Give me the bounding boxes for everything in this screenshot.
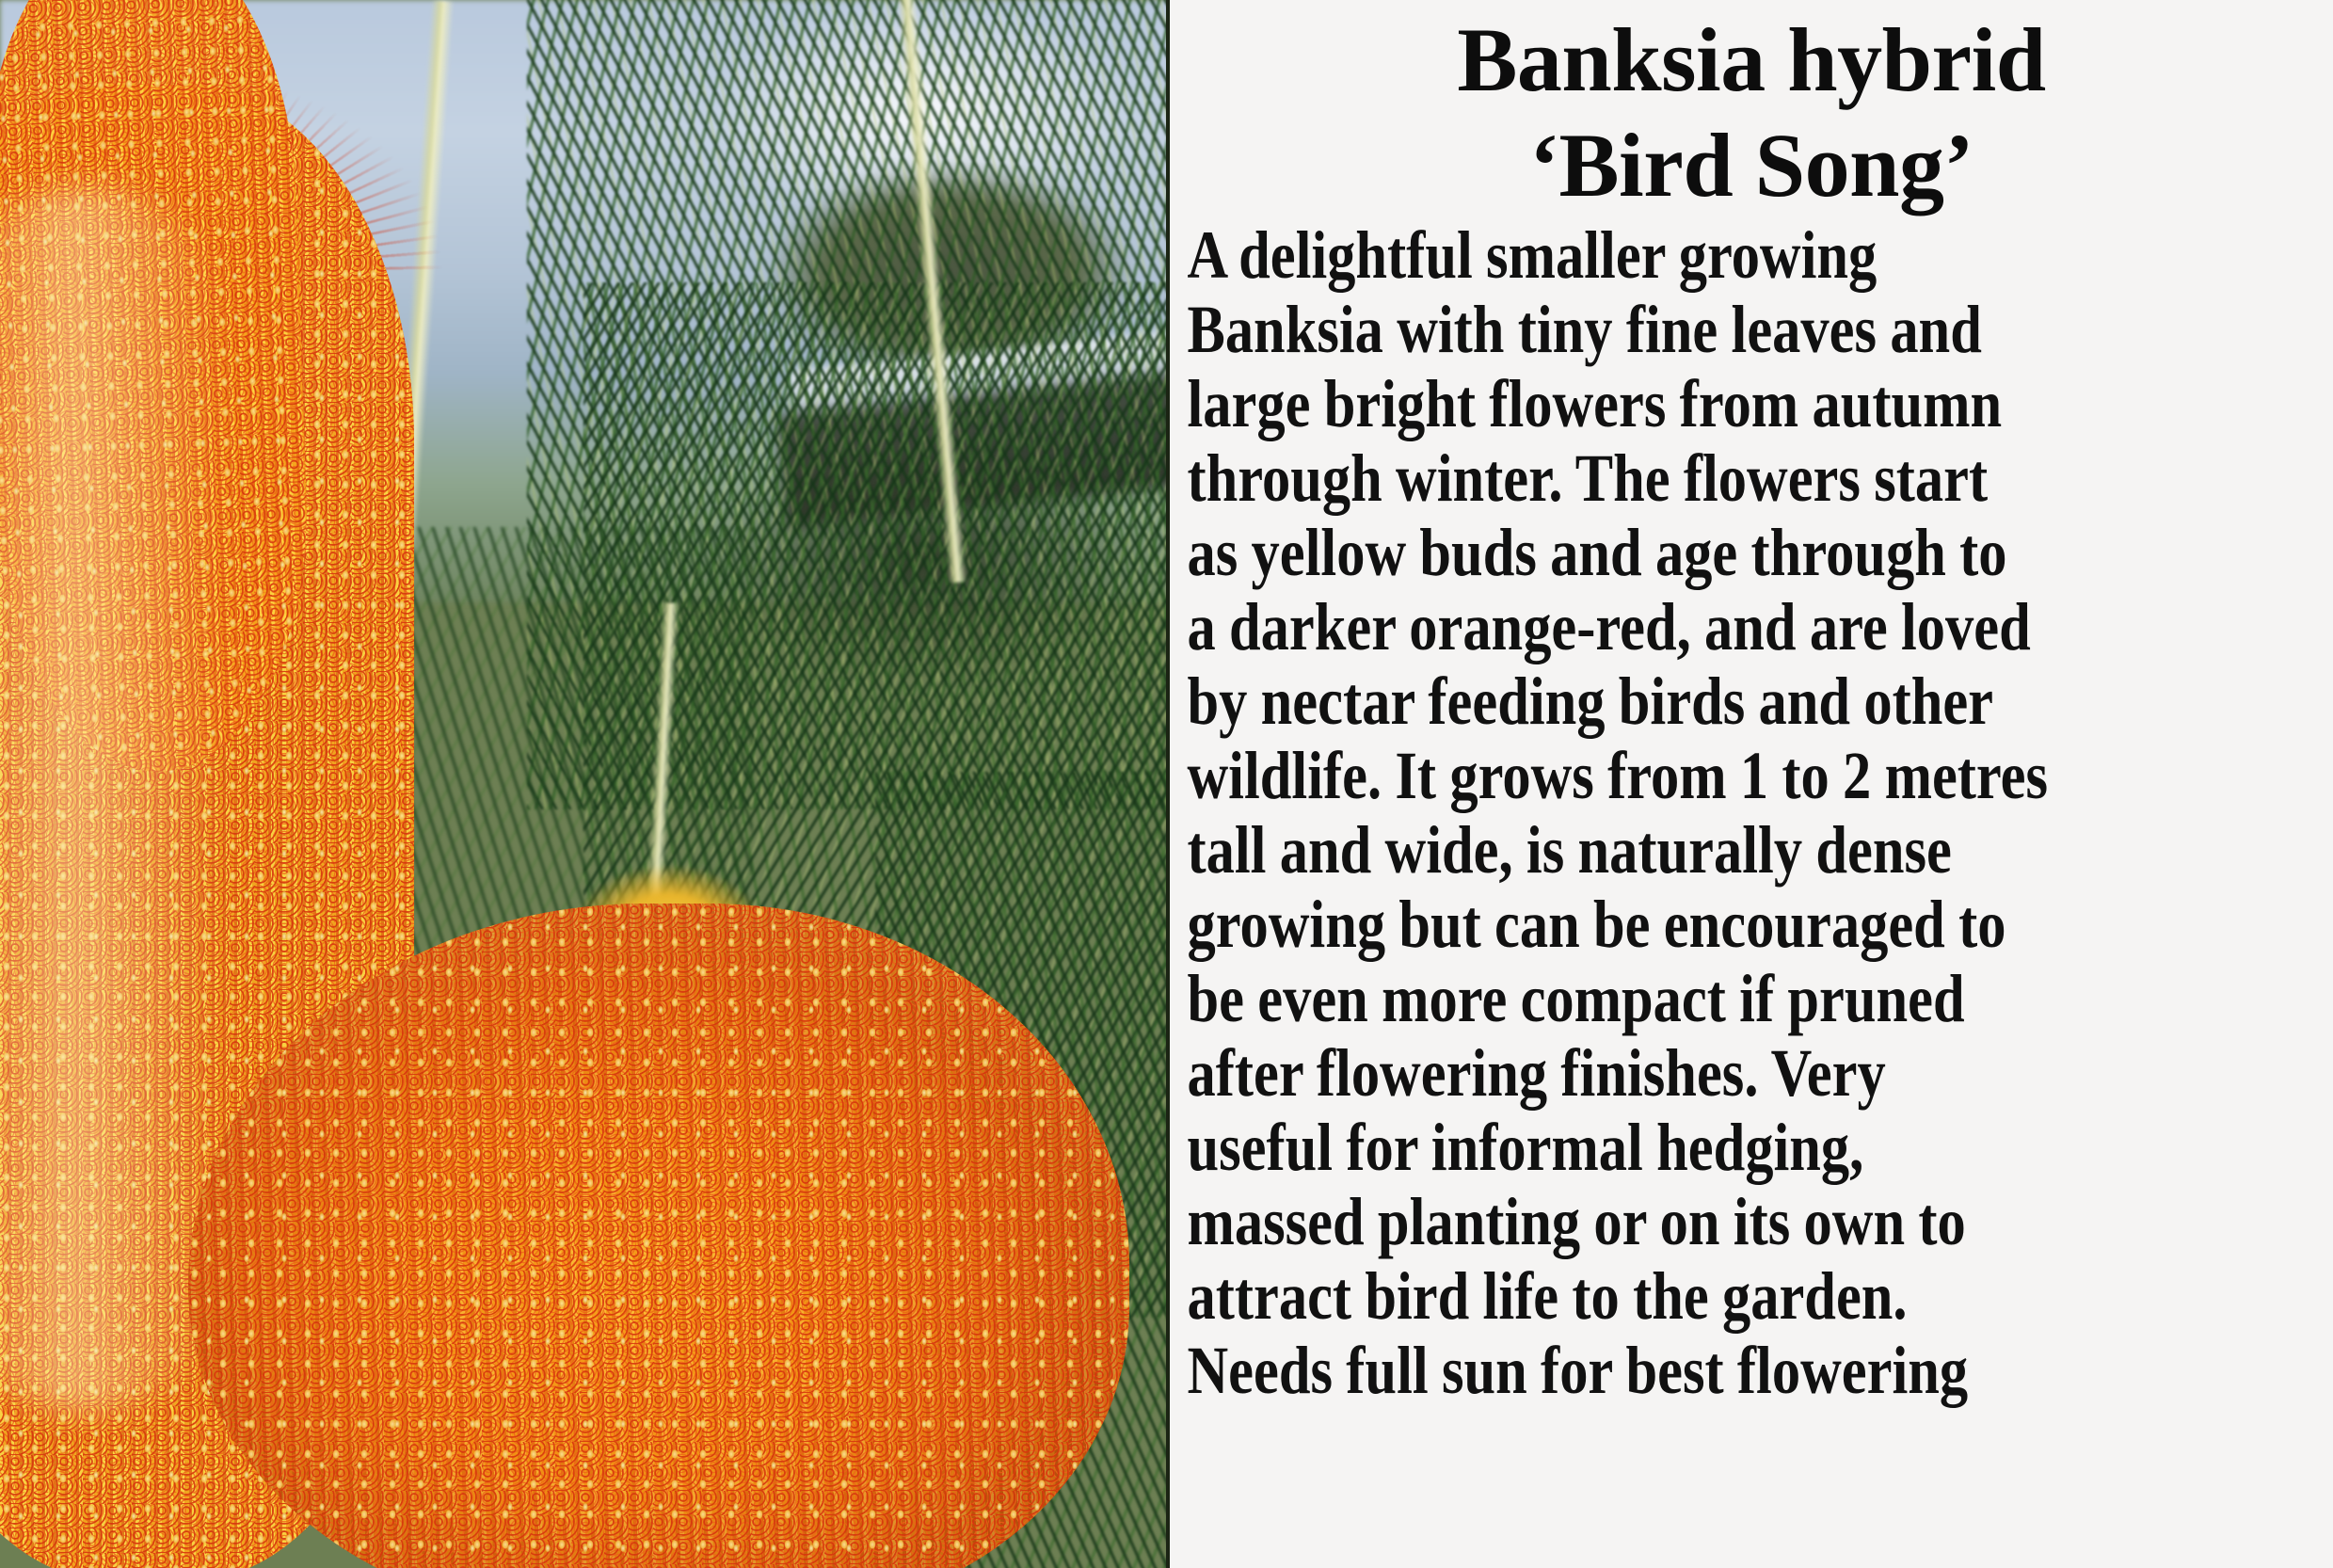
plant-title: Banksia hybrid ‘Bird Song’ xyxy=(1170,0,2333,218)
description-line: by nectar feeding birds and other xyxy=(1187,664,2333,739)
plant-title-line-2: ‘Bird Song’ xyxy=(1194,113,2309,218)
description-line: Banksia with tiny fine leaves and xyxy=(1187,293,2333,367)
info-text-panel: Banksia hybrid ‘Bird Song’ A delightful … xyxy=(1170,0,2333,1568)
description-line: useful for informal hedging, xyxy=(1187,1111,2333,1185)
description-line: after flowering finishes. Very xyxy=(1187,1036,2333,1111)
description-line: as yellow buds and age through to xyxy=(1187,516,2333,590)
description-line: growing but can be encouraged to xyxy=(1187,888,2333,962)
description-line: large bright flowers from autumn xyxy=(1187,367,2333,441)
plant-description: A delightful smaller growing Banksia wit… xyxy=(1170,218,2333,1408)
description-line: tall and wide, is naturally dense xyxy=(1187,813,2333,888)
banksia-flower-head-lower xyxy=(188,904,1129,1568)
plant-title-line-1: Banksia hybrid xyxy=(1194,0,2309,113)
description-line: attract bird life to the garden. xyxy=(1187,1259,2333,1334)
banksia-photo xyxy=(0,0,1170,1568)
plant-info-card: Banksia hybrid ‘Bird Song’ A delightful … xyxy=(0,0,2333,1568)
flower-bud-tips xyxy=(188,904,1129,1568)
description-line: A delightful smaller growing xyxy=(1187,218,2333,293)
description-line: wildlife. It grows from 1 to 2 metres xyxy=(1187,739,2333,813)
description-line: be even more compact if pruned xyxy=(1187,962,2333,1036)
description-line: massed planting or on its own to xyxy=(1187,1185,2333,1259)
description-line: a darker orange-red, and are loved xyxy=(1187,590,2333,664)
description-line: through winter. The flowers start xyxy=(1187,441,2333,516)
description-line: Needs full sun for best flowering xyxy=(1187,1334,2333,1408)
